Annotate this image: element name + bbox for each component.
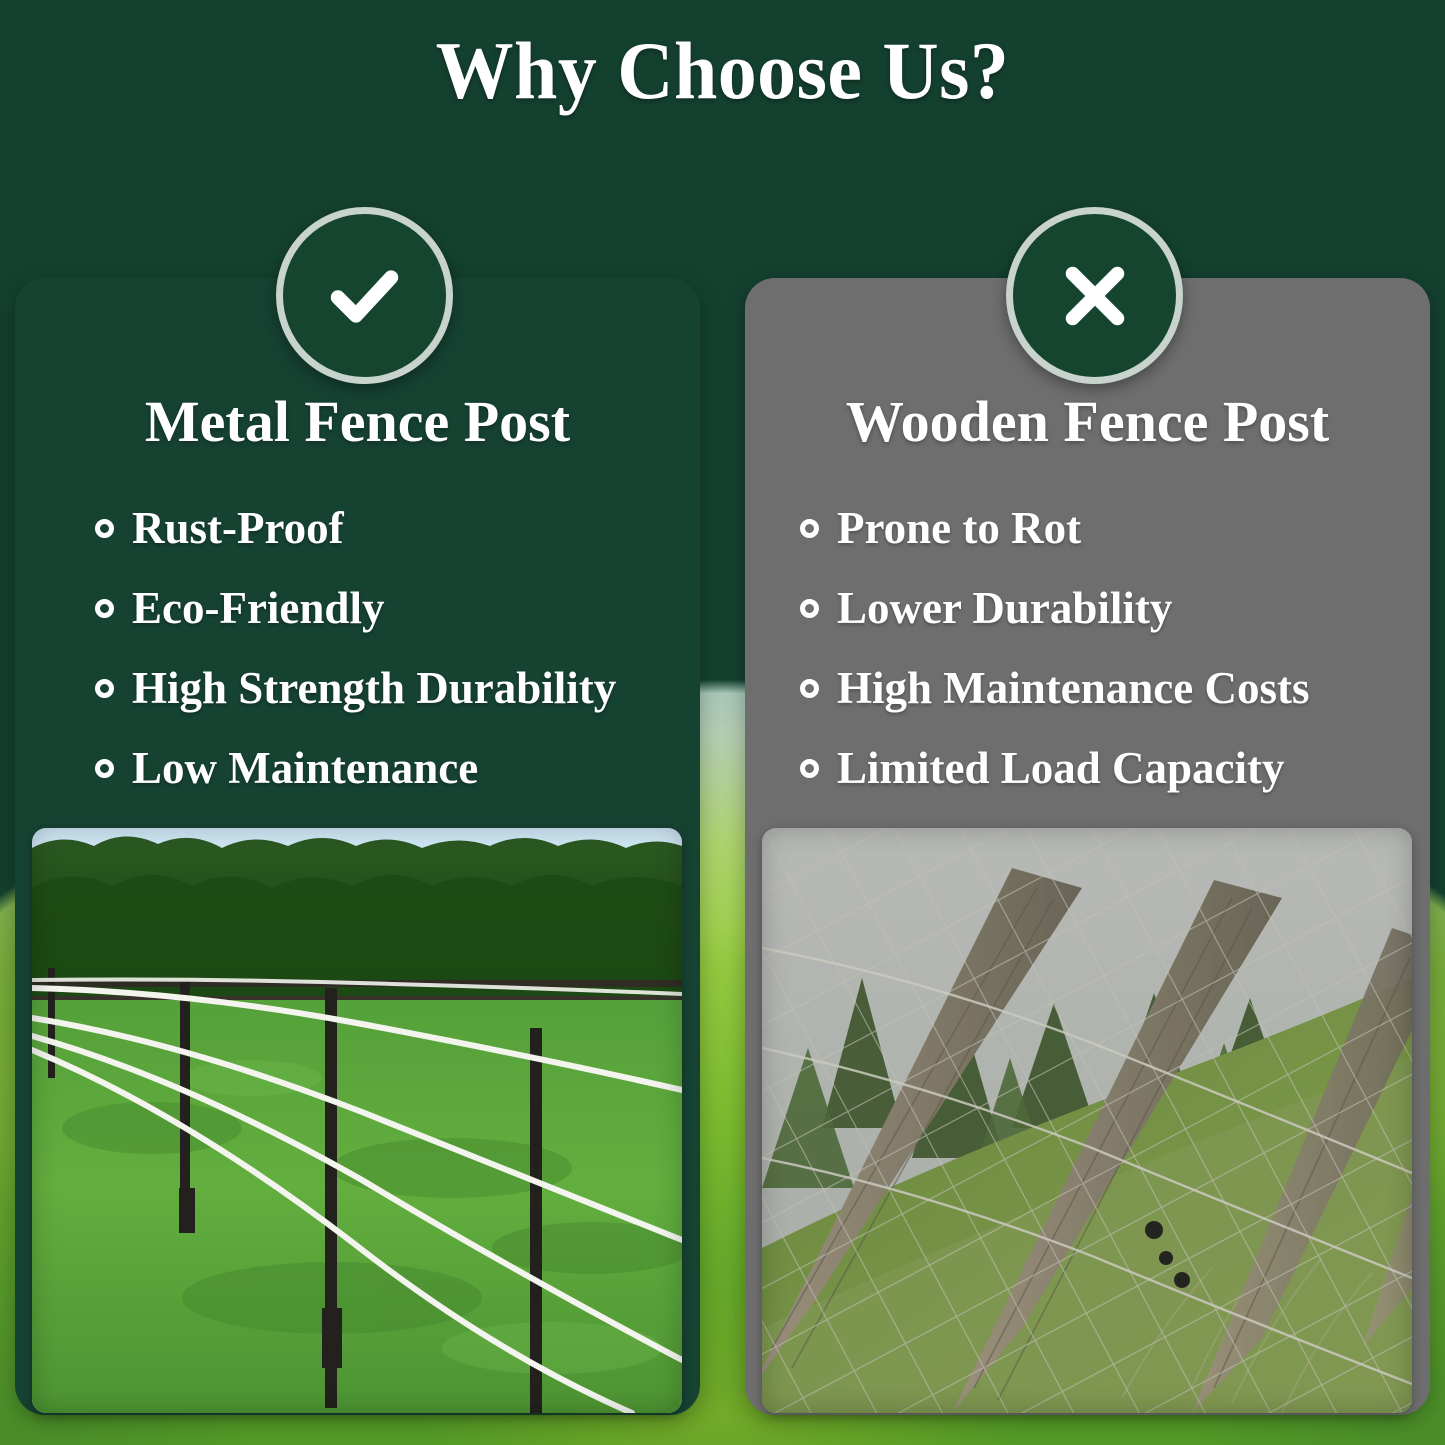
pro-photo (32, 828, 682, 1413)
check-icon (276, 207, 453, 384)
con-bullet-list: Prone to Rot Lower Durability High Maint… (800, 488, 1420, 808)
bullet-circle-icon (95, 599, 114, 618)
list-item: Prone to Rot (800, 488, 1420, 568)
infographic-canvas: Why Choose Us? Metal Fence Post Rust-Pro… (0, 0, 1445, 1445)
list-item-label: High Strength Durability (132, 662, 616, 714)
list-item: Eco-Friendly (95, 568, 715, 648)
pro-heading: Metal Fence Post (15, 388, 700, 455)
bullet-circle-icon (800, 679, 819, 698)
list-item-label: High Maintenance Costs (837, 662, 1310, 714)
list-item-label: Limited Load Capacity (837, 742, 1285, 794)
pro-bullet-list: Rust-Proof Eco-Friendly High Strength Du… (95, 488, 715, 808)
bullet-circle-icon (800, 759, 819, 778)
list-item-label: Lower Durability (837, 582, 1172, 634)
con-heading: Wooden Fence Post (745, 388, 1430, 455)
list-item: Lower Durability (800, 568, 1420, 648)
bullet-circle-icon (95, 519, 114, 538)
list-item: Low Maintenance (95, 728, 715, 808)
list-item-label: Rust-Proof (132, 502, 344, 554)
list-item-label: Prone to Rot (837, 502, 1081, 554)
list-item-label: Low Maintenance (132, 742, 478, 794)
bullet-circle-icon (95, 679, 114, 698)
list-item: High Maintenance Costs (800, 648, 1420, 728)
page-title: Why Choose Us? (36, 24, 1409, 118)
bullet-circle-icon (800, 519, 819, 538)
con-photo (762, 828, 1412, 1413)
list-item: Limited Load Capacity (800, 728, 1420, 808)
list-item: Rust-Proof (95, 488, 715, 568)
list-item: High Strength Durability (95, 648, 715, 728)
bullet-circle-icon (800, 599, 819, 618)
bullet-circle-icon (95, 759, 114, 778)
close-icon (1006, 207, 1183, 384)
list-item-label: Eco-Friendly (132, 582, 384, 634)
